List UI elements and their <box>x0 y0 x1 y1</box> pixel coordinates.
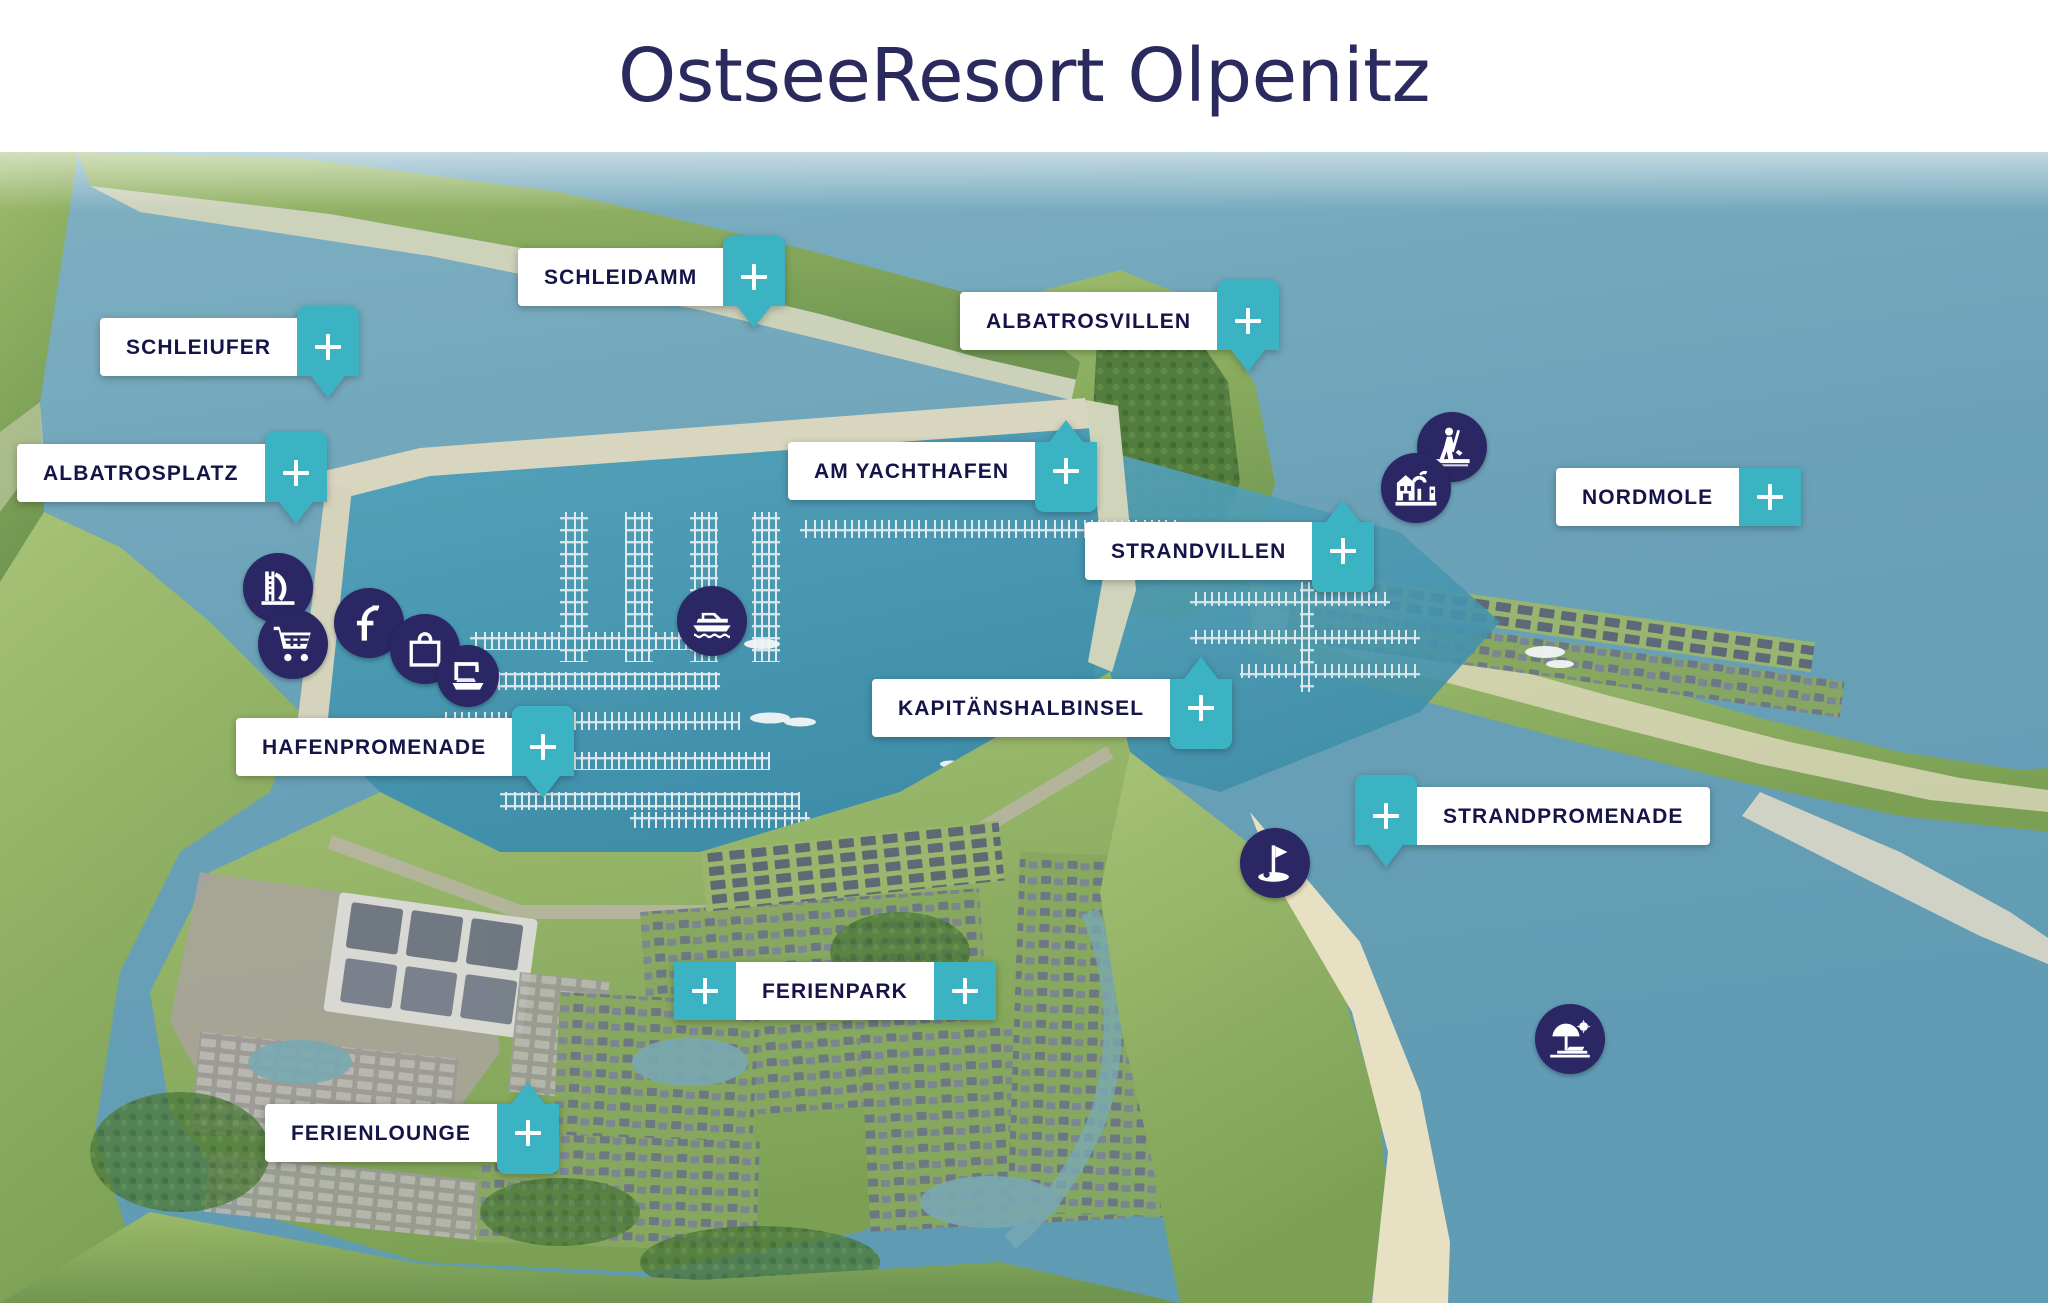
hotspot-label: ALBATROSPLATZ <box>17 444 265 502</box>
golf-flag-glyph <box>1253 841 1297 885</box>
hotspot-label: SCHLEIUFER <box>100 318 297 376</box>
beach-umbrella-glyph <box>1548 1017 1592 1061</box>
plus-icon <box>952 978 978 1004</box>
hotspot-albatrosvillen[interactable]: ALBATROSVILLEN <box>960 292 1279 350</box>
plus-icon <box>1235 308 1261 334</box>
hotspot-label: ALBATROSVILLEN <box>960 292 1217 350</box>
hotspot-nordmole[interactable]: NORDMOLE <box>1556 468 1801 526</box>
expand-plus-button[interactable] <box>497 1104 559 1162</box>
water-slide-glyph <box>256 566 300 610</box>
motorboat-icon[interactable] <box>677 586 747 656</box>
plus-icon <box>530 734 556 760</box>
plus-icon <box>1188 695 1214 721</box>
hotspot-am-yachthafen[interactable]: AM YACHTHAFEN <box>788 442 1097 500</box>
expand-plus-button[interactable] <box>1170 679 1232 737</box>
resort-map-image[interactable]: SCHLEIDAMM SCHLEIUFER ALBATROSVILLEN ALB… <box>0 152 2048 1303</box>
beach-umbrella-icon[interactable] <box>1535 1004 1605 1074</box>
expand-plus-button[interactable] <box>297 318 359 376</box>
plus-icon <box>1373 803 1399 829</box>
hotspot-hafenpromenade[interactable]: HAFENPROMENADE <box>236 718 574 776</box>
resort-map-page: OstseeResort Olpenitz <box>0 0 2048 1303</box>
hotspot-label-text: FERIENLOUNGE <box>291 1123 471 1144</box>
hotspot-label-text: HAFENPROMENADE <box>262 737 486 758</box>
hotspot-label: STRANDVILLEN <box>1085 522 1312 580</box>
hotspot-label-text: AM YACHTHAFEN <box>814 461 1009 482</box>
golf-flag-icon[interactable] <box>1240 828 1310 898</box>
motorboat-glyph <box>690 599 734 643</box>
hotspot-label-text: FERIENPARK <box>762 981 908 1002</box>
hotspot-label-text: ALBATROSVILLEN <box>986 311 1191 332</box>
plus-icon <box>741 264 767 290</box>
plus-icon <box>315 334 341 360</box>
beach-village-glyph <box>1394 466 1438 510</box>
hotspot-label-text: NORDMOLE <box>1582 487 1713 508</box>
hotspot-label: NORDMOLE <box>1556 468 1739 526</box>
hotspot-label: FERIENLOUNGE <box>265 1104 497 1162</box>
hotspot-label-text: SCHLEIUFER <box>126 337 271 358</box>
shopping-cart-icon[interactable] <box>258 609 328 679</box>
hotspot-label: STRANDPROMENADE <box>1417 787 1710 845</box>
expand-plus-button[interactable] <box>1739 468 1801 526</box>
hotspot-label: HAFENPROMENADE <box>236 718 512 776</box>
beach-village-icon[interactable] <box>1381 453 1451 523</box>
hotspot-label-text: STRANDPROMENADE <box>1443 806 1684 827</box>
plus-icon <box>692 978 718 1004</box>
title-bar: OstseeResort Olpenitz <box>0 0 2048 152</box>
plus-icon <box>1330 538 1356 564</box>
hotspot-label-text: KAPITÄNSHALBINSEL <box>898 698 1144 719</box>
expand-plus-button[interactable] <box>265 444 327 502</box>
expand-plus-button[interactable] <box>723 248 785 306</box>
hotspot-strandvillen[interactable]: STRANDVILLEN <box>1085 522 1374 580</box>
hotspot-albatrosplatz[interactable]: ALBATROSPLATZ <box>17 444 327 502</box>
hotspot-label: AM YACHTHAFEN <box>788 442 1035 500</box>
expand-plus-button[interactable] <box>1217 292 1279 350</box>
boat-slipway-glyph <box>449 657 487 695</box>
plus-icon <box>515 1120 541 1146</box>
expand-plus-button[interactable] <box>1355 787 1417 845</box>
page-title: OstseeResort Olpenitz <box>618 39 1430 113</box>
hotspot-ferienpark[interactable]: FERIENPARK <box>674 962 996 1020</box>
expand-plus-button[interactable] <box>512 718 574 776</box>
shopping-cart-glyph <box>271 622 315 666</box>
hotspot-label: KAPITÄNSHALBINSEL <box>872 679 1170 737</box>
hotspot-schleidamm[interactable]: SCHLEIDAMM <box>518 248 785 306</box>
hotspot-kapitaenshalbinsel[interactable]: KAPITÄNSHALBINSEL <box>872 679 1232 737</box>
plus-icon <box>1757 484 1783 510</box>
expand-plus-button[interactable] <box>1312 522 1374 580</box>
expand-plus-button[interactable] <box>1035 442 1097 500</box>
boat-slipway-icon[interactable] <box>437 645 499 707</box>
letter-f-glyph <box>347 601 391 645</box>
hotspot-schleiufer[interactable]: SCHLEIUFER <box>100 318 359 376</box>
plus-icon <box>1053 458 1079 484</box>
expand-plus-button-left[interactable] <box>674 962 736 1020</box>
expand-plus-button-right[interactable] <box>934 962 996 1020</box>
hotspot-strandpromenade[interactable]: STRANDPROMENADE <box>1355 787 1710 845</box>
hotspot-label: FERIENPARK <box>736 962 934 1020</box>
plus-icon <box>283 460 309 486</box>
hotspot-ferienlounge[interactable]: FERIENLOUNGE <box>265 1104 559 1162</box>
hotspot-label-text: SCHLEIDAMM <box>544 267 697 288</box>
hotspot-label: SCHLEIDAMM <box>518 248 723 306</box>
hotspot-label-text: ALBATROSPLATZ <box>43 463 239 484</box>
hotspot-label-text: STRANDVILLEN <box>1111 541 1286 562</box>
